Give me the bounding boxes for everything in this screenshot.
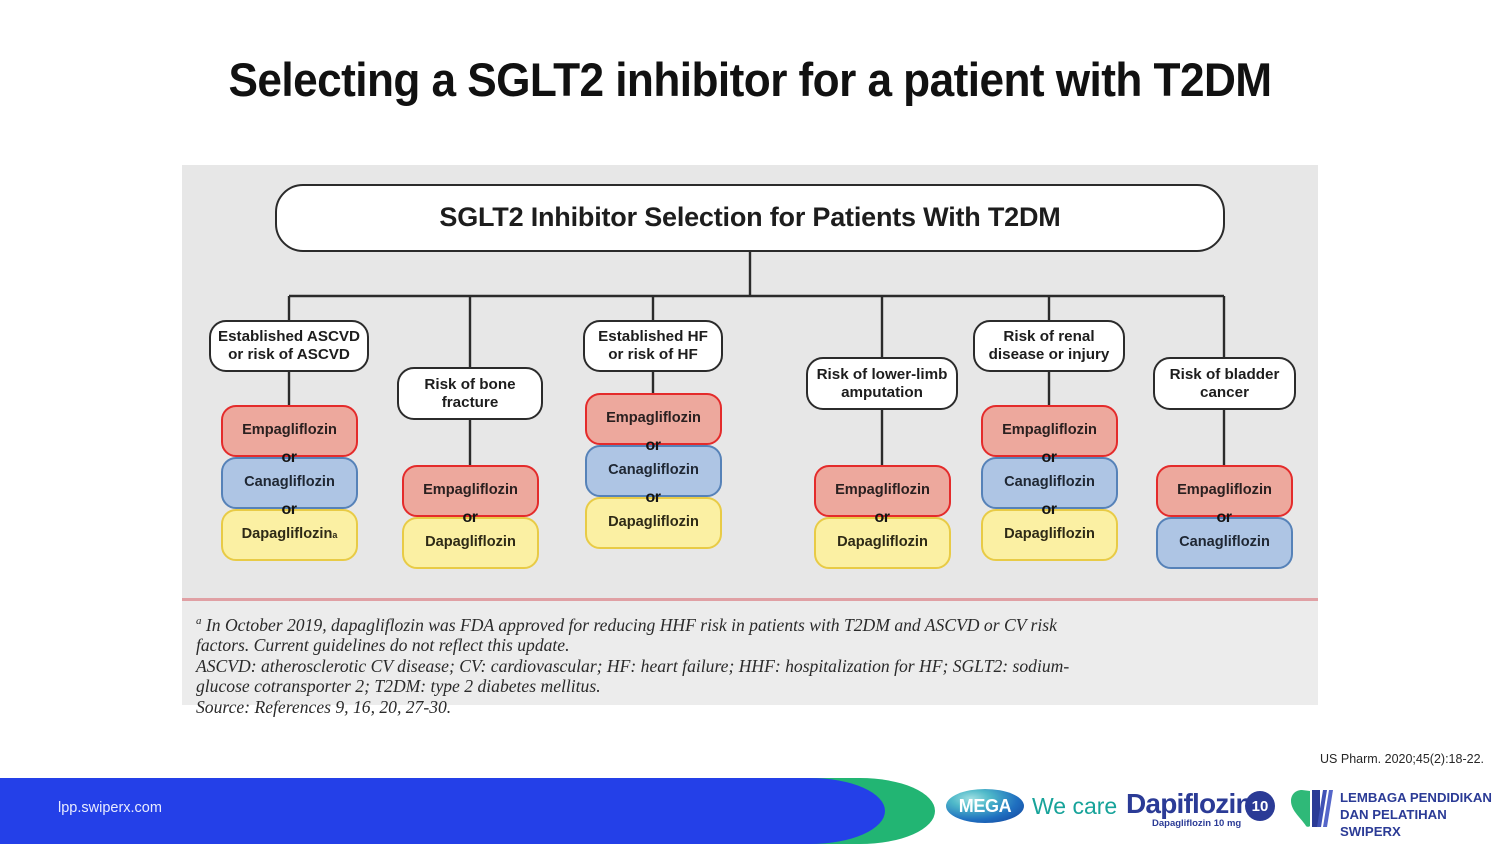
mega-logo-label: MEGA: [959, 796, 1011, 817]
drug-label: Dapagliflozin: [1004, 526, 1095, 543]
footnote-marker: a: [196, 615, 202, 627]
drug-label: Canagliflozin: [1004, 474, 1095, 491]
or-connector-label: or: [623, 489, 683, 507]
footnote-line-3: ASCVD: atherosclerotic CV disease; CV: c…: [196, 656, 1304, 677]
slide-root: Selecting a SGLT2 inhibitor for a patien…: [0, 0, 1500, 844]
drug-label: Dapagliflozin: [425, 534, 516, 551]
condition-label-line2: or risk of ASCVD: [228, 346, 350, 364]
condition-label-line1: Risk of renal: [1003, 328, 1094, 346]
mega-logo: MEGA: [946, 789, 1024, 823]
or-connector-label: or: [259, 449, 319, 467]
drug-label: Empagliflozin: [606, 410, 701, 427]
figure-footnote: a In October 2019, dapagliflozin was FDA…: [182, 601, 1318, 705]
condition-box-lower-limb-amputation: Risk of lower-limb amputation: [806, 357, 958, 410]
drug-label: Empagliflozin: [1177, 482, 1272, 499]
condition-label-line2: amputation: [841, 384, 923, 402]
condition-label-line1: Risk of bladder: [1170, 366, 1280, 384]
diagram-root-box: SGLT2 Inhibitor Selection for Patients W…: [275, 184, 1225, 252]
footer-bar: [0, 770, 1500, 844]
or-connector-label: or: [259, 501, 319, 519]
drug-label: Empagliflozin: [835, 482, 930, 499]
drug-label: Canagliflozin: [1179, 534, 1270, 551]
footnote-marker: a: [332, 530, 337, 541]
or-connector-label: or: [440, 509, 500, 527]
drug-label: Dapagliflozin: [608, 514, 699, 531]
partner-name: LEMBAGA PENDIDIKAN DAN PELATIHAN SWIPERX: [1340, 790, 1500, 841]
condition-label-line1: Established HF: [598, 328, 708, 346]
drug-label: Empagliflozin: [423, 482, 518, 499]
brand-name: Dapiflozin: [1126, 788, 1252, 820]
or-connector-label: or: [623, 437, 683, 455]
footnote-line-4: glucose cotransporter 2; T2DM: type 2 di…: [196, 676, 1304, 697]
diagram-root-label: SGLT2 Inhibitor Selection for Patients W…: [439, 202, 1060, 234]
drug-label: Empagliflozin: [1002, 422, 1097, 439]
condition-label-line1: Risk of lower-limb: [817, 366, 948, 384]
footer-url[interactable]: lpp.swiperx.com: [58, 800, 162, 816]
footnote-line-5: Source: References 9, 16, 20, 27-30.: [196, 697, 1304, 718]
footnote-text: In October 2019, dapagliflozin was FDA a…: [206, 615, 1057, 635]
condition-box-renal-disease: Risk of renal disease or injury: [973, 320, 1125, 372]
drug-label: Dapagliflozin: [837, 534, 928, 551]
drug-label: Canagliflozin: [244, 474, 335, 491]
condition-label-line1: Established ASCVD: [218, 328, 360, 346]
page-title: Selecting a SGLT2 inhibitor for a patien…: [45, 52, 1455, 107]
or-connector-label: or: [1194, 509, 1254, 527]
condition-label-line2: disease or injury: [989, 346, 1110, 364]
or-connector-label: or: [1019, 501, 1079, 519]
decision-tree-diagram: SGLT2 Inhibitor Selection for Patients W…: [182, 165, 1318, 598]
swiperx-heart-icon: [1290, 787, 1336, 829]
drug-label: Dapagliflozin: [242, 526, 333, 543]
figure-container: SGLT2 Inhibitor Selection for Patients W…: [182, 165, 1318, 705]
dose-badge: 10: [1245, 791, 1275, 821]
condition-label-line1: Risk of bone: [424, 376, 515, 394]
or-connector-label: or: [852, 509, 912, 527]
footnote-line-1: a In October 2019, dapagliflozin was FDA…: [196, 611, 1304, 635]
condition-box-bone-fracture: Risk of bone fracture: [397, 367, 543, 420]
condition-box-heart-failure: Established HF or risk of HF: [583, 320, 723, 372]
or-connector-label: or: [1019, 449, 1079, 467]
condition-label-line2: fracture: [442, 394, 499, 412]
brand-subtitle: Dapagliflozin 10 mg: [1152, 818, 1241, 829]
condition-label-line2: or risk of HF: [608, 346, 697, 364]
partner-line-1: LEMBAGA PENDIDIKAN: [1340, 790, 1500, 807]
footnote-line-2: factors. Current guidelines do not refle…: [196, 635, 1304, 656]
drug-label: Canagliflozin: [608, 462, 699, 479]
partner-line-2: DAN PELATIHAN SWIPERX: [1340, 807, 1500, 841]
we-care-tagline: We care: [1032, 793, 1117, 820]
source-citation: US Pharm. 2020;45(2):18-22.: [1320, 752, 1484, 766]
condition-box-ascvd: Established ASCVD or risk of ASCVD: [209, 320, 369, 372]
condition-label-line2: cancer: [1200, 384, 1249, 402]
condition-box-bladder-cancer: Risk of bladder cancer: [1153, 357, 1296, 410]
drug-label: Empagliflozin: [242, 422, 337, 439]
